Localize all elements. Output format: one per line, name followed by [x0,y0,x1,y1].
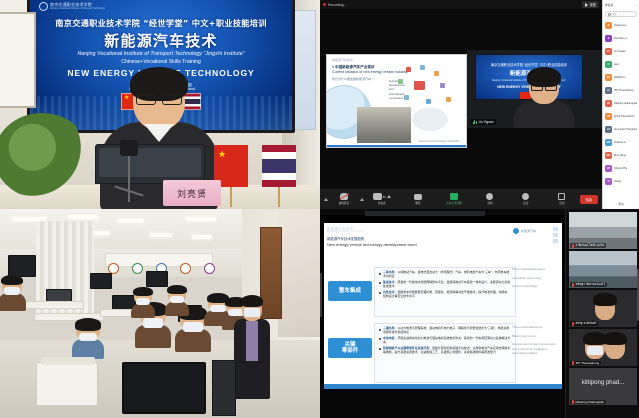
whiteboard [0,12,36,108]
toolbar-chat-label: 聊天 [415,201,420,205]
face-mask-icon [183,322,203,332]
participant-row[interactable]: BHBunt Hanyi [603,149,639,162]
apps-icon [558,193,565,200]
corner-square [553,227,558,231]
wall-emblem-icon [204,263,215,274]
share-screen-icon [450,193,458,200]
bullet-item: 电池电机：开展先进模块化动力电池与驱动电机系统技术攻关，探索新一代车用轻薄动力系… [379,337,511,345]
participant-row[interactable]: PApatiphan s [603,71,639,84]
thumbnail-name-badge: 4 ชัยวัฒน์ ใจมั่น ธุรกิจ [570,243,606,248]
corner-square [553,239,558,243]
slide-tag-vehicle-integration: 整车集成 [328,281,372,301]
zoom-video-stage: Recording... 视图 新能源汽车技术 1 中国新能源汽车产业现状 Cu… [320,0,602,209]
toolbar-apps-label: 应用 [559,201,564,205]
slide-watermark-en: NEW ENERGY VEHICLE TECHNOLOGY [327,231,364,233]
gallery-thumbnail[interactable]: 4 ชัยวัฒน์ ใจมั่น ธุรกิจ [569,212,637,249]
face-mask-icon [587,346,603,355]
student-hair [167,285,186,294]
presentation-slide: 新能源汽车技术 NEW ENERGY VEHICLE TECHNOLOGY 新能… [324,223,562,389]
face-mask-icon [210,305,225,312]
participants-chevron-icon[interactable] [387,195,391,198]
student-body [135,325,170,348]
speaker-nameplate-text: 刘亮贤 [177,187,207,200]
slide-english-annotations-2: Three horizontal layout Battery and moto… [512,325,560,355]
thumbnail-name-label: ชนิษฐา วัดธรรมวัฒน์ ไ [576,282,606,287]
graphic-dot [440,83,445,88]
stage-dark-bar [365,211,485,216]
instructor-shirt [246,321,258,361]
slide-tag-key-components: 关键 零部件 [328,338,372,358]
bullet-text: 智能网联汽车关键零部件及系统开发：突破计算和控制基础平台技术、氢燃料电池汽车应用… [383,347,511,355]
bullet-dot-icon [379,292,381,294]
record-icon [486,193,493,200]
participant-name: Dodge [614,180,621,183]
student-hair [75,318,100,330]
avatar: AW [605,139,612,146]
tripod [128,150,130,202]
bullet-dot-icon [379,348,381,350]
institution-logo: 南京交通职业技术学院 Nanjing Vocational Institute … [39,2,105,11]
avatar: S [605,22,612,29]
student [168,287,186,313]
participant-row[interactable]: Oopor [603,58,639,71]
slide-logo-text: 新能源汽车 [521,229,536,233]
avatar: PA [605,74,612,81]
printer [36,362,98,406]
pc-tower [212,360,236,416]
wall-emblem-icon [180,263,191,274]
laptop-screen [99,148,201,177]
student-hair [1,275,22,286]
panel-classroom-photo [0,209,320,418]
stage-bottom-band [320,392,565,418]
participant-row[interactable]: ATAnonmard Thongchai [603,123,639,136]
slide-bottom-accent-bar [324,384,562,389]
speaker-name-label: Liu Yiguan [479,120,494,124]
participant-name: Autanan w [614,141,626,144]
student-body [72,339,105,359]
graphic-dot [398,79,403,84]
bullet-item: 共性技术：突破整车智能能量管理控制、轻量化、低摩擦等共性节能技术，提升电池管理、… [379,291,511,299]
avatar: D [605,178,612,185]
participants-panel-menu-icon[interactable]: ⋯ [634,3,637,7]
gallery-thumbnail[interactable]: kittipong phad... kittipong phadungsab [569,368,637,405]
participant-name: opor [614,63,619,66]
slide-accent-bar [327,145,466,147]
corner-square [553,233,558,237]
avatar: 357 [605,87,612,94]
bullet-dot-icon [379,338,381,340]
led-line-2-title: 新能源汽车技术 [30,30,292,51]
laptop [95,144,205,184]
participants-panel: 参会者 ⋯ 搜索 Sshasha luo SSecretary a LYLiu … [602,0,639,209]
participants-panel-title: 参会者 [605,3,613,7]
participants-icon [373,193,382,200]
printer-paper-tray [41,357,95,365]
participant-row[interactable]: SSecretary a [603,32,639,45]
monitor [8,255,36,277]
avatar: BH [605,152,612,159]
thumbnail-name-badge: 357 Theeraphong [570,361,601,365]
shared-slide-content: 新能源汽车技术 1 中国新能源汽车产业现状 Current situation … [326,54,467,148]
view-button-label: 视图 [590,2,596,7]
participant-row[interactable]: CPChanat Pha [603,162,639,175]
reactions-icon [522,193,529,200]
bullet-body: 开展先进模块化动力电池与驱动电机系统技术攻关，探索新一代车用轻薄动力系统解决方案 [383,336,510,344]
microphone [120,140,138,156]
speaker-video-tile[interactable]: 南京交通职业技术学院 “经世学堂” 中文+职业技能培训 新能源汽车技术 Nanj… [467,50,602,128]
avatar: CP [605,165,612,172]
instructor-figure [234,297,270,415]
mic-muted-icon [572,322,574,326]
mic-options-chevron-icon[interactable] [324,198,328,201]
slide-title-en: New energy vehicle technology developmen… [327,242,417,247]
mic-off-icon [340,193,348,200]
bullet-dot-icon [379,329,381,331]
gallery-thumbnail-strip[interactable]: 4 ชัยวัฒน์ ใจมั่น ธุรกิจ ชนิษฐา วัดธรรมว… [565,209,639,418]
slide-corner-squares [553,227,558,245]
graphic-dot [406,67,411,72]
bullet-body: 研发新一代模块化智能网联整车平台，发展纯电动汽车底盘一体化设计、多能源动力系统集… [383,280,510,288]
search-icon [608,13,611,16]
face-mask-icon [79,333,97,342]
toolbar-share-label: 正在共享屏幕 [446,201,462,205]
ceiling-light [150,233,172,237]
wall-emblem-icon [132,263,143,274]
student-body [131,303,155,319]
toolbar-reactions-label: 反应 [523,201,528,205]
participant-name: shasha luo [614,24,626,27]
mic-muted-icon [572,283,574,287]
chat-icon [414,194,422,200]
ceiling-light [68,215,98,219]
participants-count: 54 [383,195,386,199]
toolbar-participants-label: 参会者 [378,201,386,205]
recording-label: Recording... [328,3,346,7]
led-line-3: Nanjing Vocational Institute of Transpor… [30,51,292,57]
participant-row[interactable]: LYLiu Yiguan [603,45,639,58]
zoom-toolbar: 解除静音 54 参会者 聊天 [320,189,602,209]
toolbar-record-button[interactable]: 录制 [480,193,500,205]
student-body [165,301,189,317]
slide-bullet-block-2: 三横布局：以动力电池与管理系统、驱动电机与电力电子、网联化与智能化技术为“三横”… [374,323,516,383]
participant-hair [593,293,617,306]
graphic-dot [414,81,425,90]
bullet-body: 以纯电动汽车、插电式混合动力（含增程式）汽车、燃料电池汽车为“三纵”，布局整车技… [383,270,509,278]
invite-button[interactable]: 邀请 [603,202,639,206]
avatar: KI [605,100,612,107]
participant-name: kittipong phadungsab [614,102,637,105]
desk-flag-thailand-icon [262,145,296,187]
bullet-item: 三纵布局：以纯电动汽车、插电式混合动力（含增程式）汽车、燃料电池汽车为“三纵”，… [379,271,511,279]
slide-logo: 新能源汽车 [513,228,536,234]
panel-zoom-meeting: Recording... 视图 新能源汽车技术 1 中国新能源汽车产业现状 Cu… [320,0,639,209]
participants-panel-header: 参会者 ⋯ [603,0,639,10]
zoom-topbar: Recording... 视图 [320,0,602,9]
ceiling-light [118,219,144,223]
mic-active-icon [473,120,477,124]
avatar: O [605,61,612,68]
toolbar-center-group: 54 参会者 聊天 正在共享屏幕 录制 [364,193,580,205]
mic-muted-icon [572,361,574,365]
panel-lecture-room: 南京交通职业技术学院 Nanjing Vocational Institute … [0,0,320,209]
panel-shared-presentation: 新能源汽车技术 NEW ENERGY VEHICLE TECHNOLOGY 新能… [320,209,639,418]
bullet-dot-icon [379,273,381,275]
recording-dot-icon [323,3,326,6]
instructor-face-mask-icon [244,308,260,317]
car-illustration [399,99,461,133]
face-mask-icon [143,318,163,328]
participant-row[interactable]: AWAutanan w [603,136,639,149]
slide-question: 我们为什么要发展新能源汽车？ [332,77,374,81]
participant-name: Secretary a [614,37,627,40]
toolbar-left-group: 解除静音 [324,193,364,205]
foreground-monitor [122,362,206,414]
speaker-body [513,100,575,128]
logo-name-en: Nanjing Vocational Institute of Transpor… [50,7,105,10]
slide-bullet-block-1: 三纵布局：以纯电动汽车、插电式混合动力（含增程式）汽车、燃料电池汽车为“三纵”，… [374,267,516,317]
thumbnail-name-label: kittipong phadungsab [576,400,605,404]
bullet-dot-icon [379,282,381,284]
mic-muted-icon [572,400,574,404]
view-button[interactable]: 视图 [582,1,599,8]
ceiling-light [186,217,216,221]
slide-english-annotations-1: Three longitudinal layout Integration te… [512,267,560,289]
student-body [175,329,210,352]
avatar: AT [605,126,612,133]
participant-name: Anonmard Thongchai [614,128,637,131]
ceiling-light [192,235,212,239]
wall-artwork [278,209,320,337]
bullet-text: 三横布局：以动力电池与管理系统、驱动电机与电力电子、网联化与智能化技术为“三横”… [383,327,511,335]
speaker-figure [513,70,575,128]
bullet-body: 以动力电池与管理系统、驱动电机与电力电子、网联化与智能化技术为“三横”，构建关键… [383,326,509,334]
thumbnail-display-name: kittipong phad... [569,380,637,386]
student [134,289,152,315]
bullet-item: 集成技术：研发新一代模块化智能网联整车平台，发展纯电动汽车底盘一体化设计、多能源… [379,281,511,289]
participant-row[interactable]: 357357 Theeraphong [603,84,639,97]
speaker-glasses-icon [531,83,557,89]
participant-name: Bunt Hanyi [614,154,626,157]
screenshot-collage: 南京交通职业技术学院 Nanjing Vocational Institute … [0,0,639,418]
view-triangle-icon [585,3,588,7]
slide-caption-right: science and technology contribution [419,140,460,143]
toolbar-participants-button[interactable]: 54 参会者 [372,193,392,205]
graphic-dot [434,71,439,76]
recording-indicator: Recording... [323,3,346,7]
participant-row[interactable]: Sshasha luo [603,19,639,32]
slide-watermark: 新能源汽车技术 [332,58,408,62]
participants-search-input[interactable]: 搜索 [605,11,637,17]
slide-logo-icon [513,228,519,234]
participant-name: 357 Theeraphong [614,89,634,92]
toolbar-reactions-button[interactable]: 反应 [516,193,536,205]
toolbar-unmute-button[interactable]: 解除静音 [334,193,354,205]
slide-tag-label-line2: 零部件 [342,348,359,354]
presenter-glasses-icon [136,94,182,103]
instructor-hair [241,295,263,307]
search-placeholder: 搜索 [612,12,617,16]
participant-row[interactable]: DDodge [603,175,639,188]
avatar: S [605,35,612,42]
stage-scrollbar[interactable] [320,273,322,317]
mic-muted-icon [572,244,574,248]
participant-row[interactable]: KIkittipong phadungsab [603,97,639,110]
student-hair [133,287,152,296]
participant-name: Chanat Pha [614,167,627,170]
face-mask-icon [4,287,19,295]
speaker-nameplate: 刘亮贤 [163,180,221,206]
gallery-thumbnail[interactable]: สหรัฐ ชาติจันทร์ [569,290,637,327]
slide-caption-left: environmental protection [357,140,385,143]
slide-tag-label: 整车集成 [339,288,361,294]
avatar: AT [605,113,612,120]
bullet-item: 三横布局：以动力电池与管理系统、驱动电机与电力电子、网联化与智能化技术为“三横”… [379,327,511,335]
toolbar-chat-button[interactable]: 聊天 [408,194,428,205]
bullet-text: 共性技术：突破整车智能能量管理控制、轻量化、低摩擦等共性节能技术，提升电池管理、… [383,291,511,299]
gallery-thumbnail[interactable]: ชนิษฐา วัดธรรมวัฒน์ ไ [569,251,637,288]
face-mask-icon [136,298,150,305]
thumbnail-name-badge: ชนิษฐา วัดธรรมวัฒน์ ไ [570,282,607,287]
toolbar-unmute-label: 解除静音 [339,201,349,205]
thumbnail-name-label: 357 Theeraphong [576,361,600,365]
thumbnail-name-label: 4 ชัยวัฒน์ ใจมั่น ธุรกิจ [576,243,605,248]
graphic-dot [420,65,425,70]
student-body [0,293,26,311]
shared-screen-stage: 新能源汽车技术 NEW ENERGY VEHICLE TECHNOLOGY 新能… [320,209,565,418]
participants-list[interactable]: Sshasha luo SSecretary a LYLiu Yiguan Oo… [603,18,639,188]
participant-name: Apisit Thipsunthon [614,115,635,118]
monitor [146,271,168,287]
end-meeting-button[interactable]: 结束 [580,195,598,204]
participant-name: Liu Yiguan [614,50,626,53]
logo-mark-icon [39,2,48,11]
monitor [90,273,112,289]
toolbar-apps-button[interactable]: 应用 [552,193,572,205]
face-mask-icon [170,296,184,303]
student [76,321,100,355]
slide-title-cn: 新能源汽车技术发展趋势 [327,236,364,241]
avatar: LY [605,48,612,55]
bullet-text: 电池电机：开展先进模块化动力电池与驱动电机系统技术攻关，探索新一代车用轻薄动力系… [383,337,511,345]
bullet-text: 集成技术：研发新一代模块化智能网联整车平台，发展纯电动汽车底盘一体化设计、多能源… [383,281,511,289]
thumbnail-name-badge: kittipong phadungsab [570,400,606,404]
led-line-1: 南京交通职业技术学院 “经世学堂” 中文+职业技能培训 [30,17,292,29]
led-line-4: Chinese+Vocational Skills Training [30,59,292,65]
toolbar-record-label: 录制 [487,201,492,205]
speaker-name-badge: Liu Yiguan [470,119,496,125]
gallery-thumbnail[interactable]: 357 Theeraphong [569,329,637,366]
thumbnail-name-badge: สหรัฐ ชาติจันทร์ [570,321,598,326]
participant-row[interactable]: ATApisit Thipsunthon [603,110,639,123]
student [2,277,22,307]
thumbnail-name-label: สหรัฐ ชาติจันทร์ [576,321,597,326]
toolbar-share-screen-button[interactable]: 正在共享屏幕 [444,193,464,205]
bg-screen-line1: 南京交通职业技术学院 “经世学堂” 中文+职业技能培训 [476,62,582,67]
bullet-text: 三纵布局：以纯电动汽车、插电式混合动力（含增程式）汽车、燃料电池汽车为“三纵”，… [383,271,511,279]
bullet-item: 智能网联汽车关键零部件及系统开发：突破计算和控制基础平台技术、氢燃料电池汽车应用… [379,347,511,355]
bullet-body: 突破整车智能能量管理控制、轻量化、低摩擦等共性节能技术，提升电池管理、商用车、结… [383,290,510,298]
participant-hair-2 [603,332,627,345]
participant-name: patiphan s [614,76,626,79]
